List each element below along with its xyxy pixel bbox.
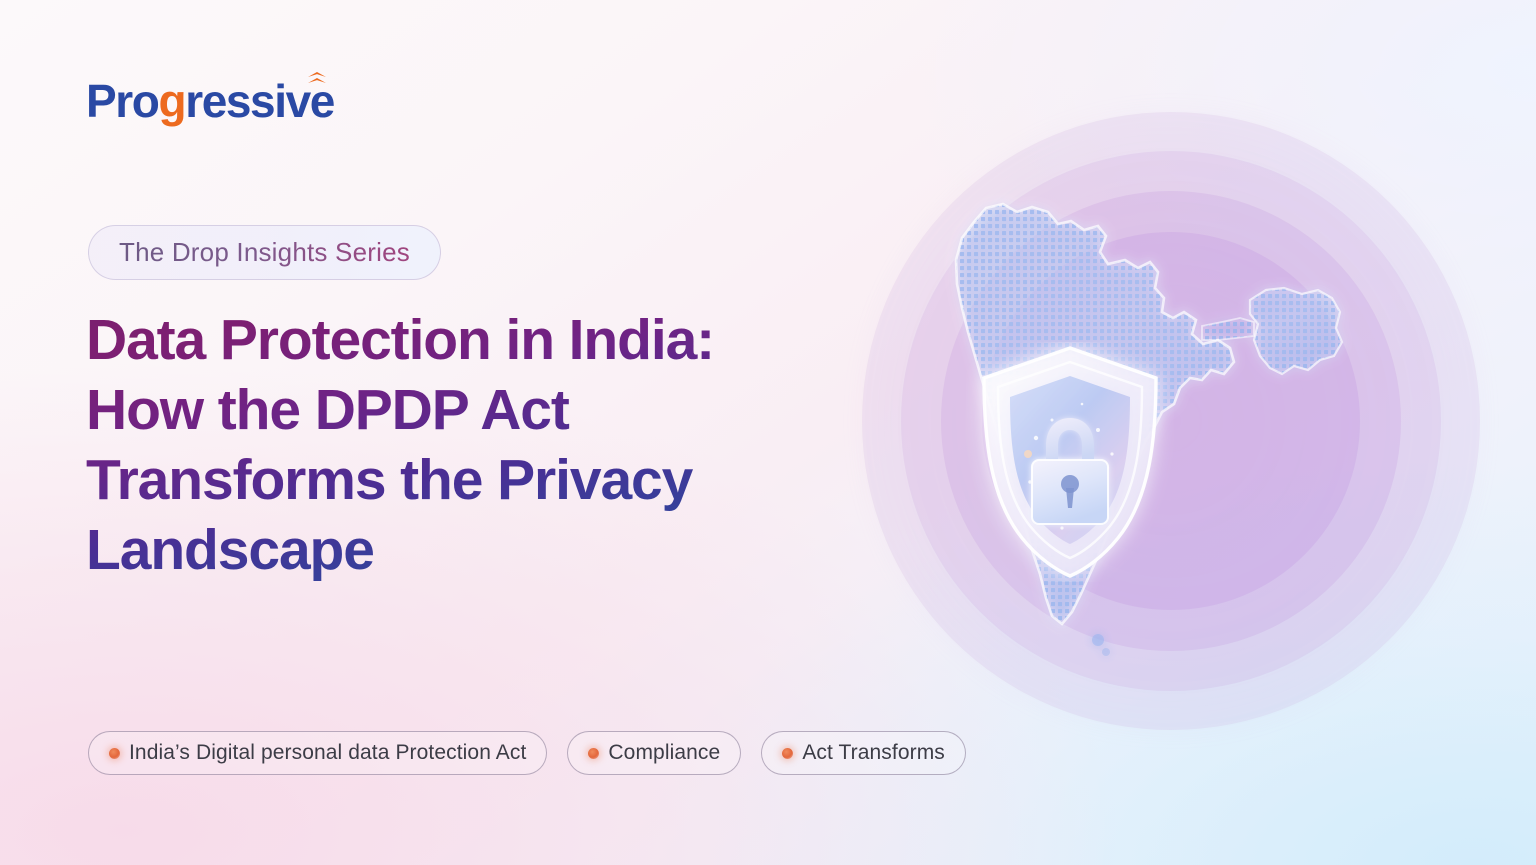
tag-chip-compliance[interactable]: Compliance <box>567 731 741 775</box>
tag-chip-act-transforms[interactable]: Act Transforms <box>761 731 966 775</box>
tag-chip-label: India’s Digital personal data Protection… <box>129 741 526 765</box>
tag-chip-dpdp[interactable]: India’s Digital personal data Protection… <box>88 731 547 775</box>
page-title: Data Protection in India: How the DPDP A… <box>86 305 746 585</box>
tag-list: India’s Digital personal data Protection… <box>88 731 966 775</box>
tag-chip-label: Act Transforms <box>802 741 945 765</box>
logo-text-pro: Pro <box>86 75 158 127</box>
logo-text-g: g <box>158 75 185 127</box>
bullet-dot-icon <box>109 748 120 759</box>
bullet-dot-icon <box>588 748 599 759</box>
hero-illustration <box>862 112 1480 730</box>
bullet-dot-icon <box>782 748 793 759</box>
progressive-logo[interactable]: Progressive <box>86 78 334 124</box>
series-badge[interactable]: The Drop Insights Series <box>88 225 441 280</box>
hero-banner: Progressive The Drop Insights Series Dat… <box>0 0 1536 865</box>
series-badge-label: The Drop Insights Series <box>119 237 410 268</box>
tag-chip-label: Compliance <box>608 741 720 765</box>
double-chevron-up-icon <box>308 72 326 88</box>
shield-icon <box>966 342 1174 582</box>
